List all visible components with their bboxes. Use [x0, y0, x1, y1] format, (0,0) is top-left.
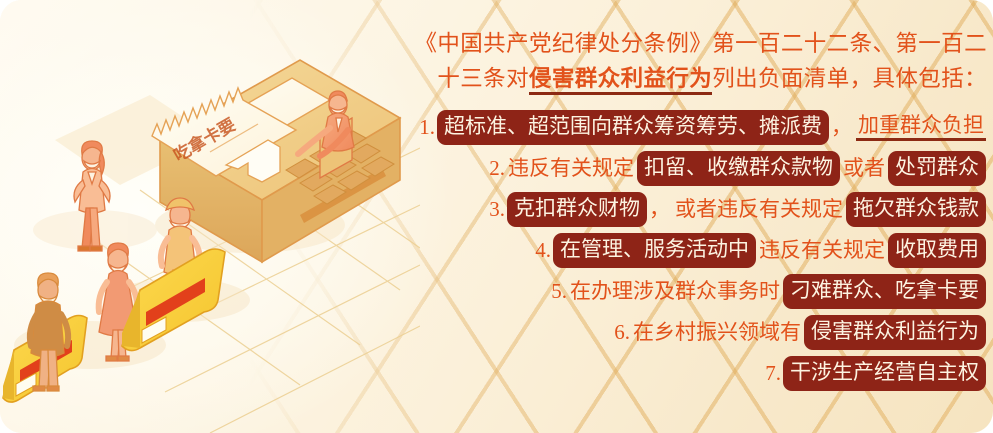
headline: 《中国共产党纪律处分条例》第一百二十二条、第一百二 十三条对侵害群众利益行为列出…: [400, 26, 987, 96]
clause-badge: 收取费用: [888, 233, 986, 268]
clause-badge: 干涉生产经营自主权: [783, 356, 986, 391]
clause-item: 6.在乡村振兴领域有侵害群众利益行为: [400, 312, 987, 353]
headline-line2-prefix: 十三条对: [437, 66, 529, 91]
clause-number: 5.: [551, 279, 567, 304]
clause-badge: 侵害群众利益行为: [804, 315, 986, 350]
clause-badge: 拖欠群众钱款: [846, 192, 986, 227]
clause-number: 2.: [489, 156, 505, 181]
poster-canvas: 吃拿卡要: [0, 0, 993, 433]
clause-text: 在办理涉及群众事务时: [568, 281, 782, 302]
illustration-pos-scene: 吃拿卡要: [0, 0, 420, 433]
headline-line1-text: 《中国共产党纪律处分条例》第一百二十二条、第一百二: [414, 31, 987, 56]
clause-badge: 扣留、收缴群众款物: [637, 151, 840, 186]
text-content: 《中国共产党纪律处分条例》第一百二十二条、第一百二 十三条对侵害群众利益行为列出…: [400, 0, 993, 433]
clause-text: 违反有关规定: [506, 158, 636, 179]
headline-line-2: 十三条对侵害群众利益行为列出负面清单，具体包括：: [400, 61, 987, 96]
clause-badge: 处罚群众: [888, 151, 986, 186]
clause-list: 1.超标准、超范围向群众筹资筹劳、摊派费，加重群众负担2.违反有关规定扣留、收缴…: [400, 107, 987, 394]
clause-item: 4.在管理、服务活动中违反有关规定收取费用: [400, 230, 987, 271]
clause-item: 5.在办理涉及群众事务时刁难群众、吃拿卡要: [400, 271, 987, 312]
clause-number: 3.: [489, 197, 505, 222]
clause-item: 2.违反有关规定扣留、收缴群众款物或者处罚群众: [400, 148, 987, 189]
clause-text: 或者: [841, 158, 887, 179]
clause-badge: 在管理、服务活动中: [553, 233, 756, 268]
clause-number: 1.: [419, 115, 435, 140]
clause-number: 6.: [614, 320, 630, 345]
headline-line-1: 《中国共产党纪律处分条例》第一百二十二条、第一百二: [400, 26, 987, 61]
clause-text: 违反有关规定: [757, 240, 887, 261]
clause-punctuation: ，: [648, 199, 673, 220]
clause-text: 在乡村振兴领域有: [631, 322, 803, 343]
clause-punctuation: ，: [830, 117, 855, 138]
clause-badge: 超标准、超范围向群众筹资筹劳、摊派费: [437, 110, 829, 145]
clause-badge: 刁难群众、吃拿卡要: [783, 274, 986, 309]
headline-line2-suffix: 列出负面清单，具体包括：: [712, 66, 987, 91]
clause-text: 或者违反有关规定: [673, 199, 845, 220]
clause-item: 3.克扣群众财物，或者违反有关规定拖欠群众钱款: [400, 189, 987, 230]
clause-underlined-text: 加重群众负担: [856, 115, 986, 141]
clause-item: 1.超标准、超范围向群众筹资筹劳、摊派费，加重群众负担: [400, 107, 987, 148]
clause-number: 4.: [535, 238, 551, 263]
clause-badge: 克扣群众财物: [507, 192, 647, 227]
clause-number: 7.: [765, 361, 781, 386]
headline-emphasis: 侵害群众利益行为: [529, 66, 712, 95]
clause-item: 7.干涉生产经营自主权: [400, 353, 987, 394]
